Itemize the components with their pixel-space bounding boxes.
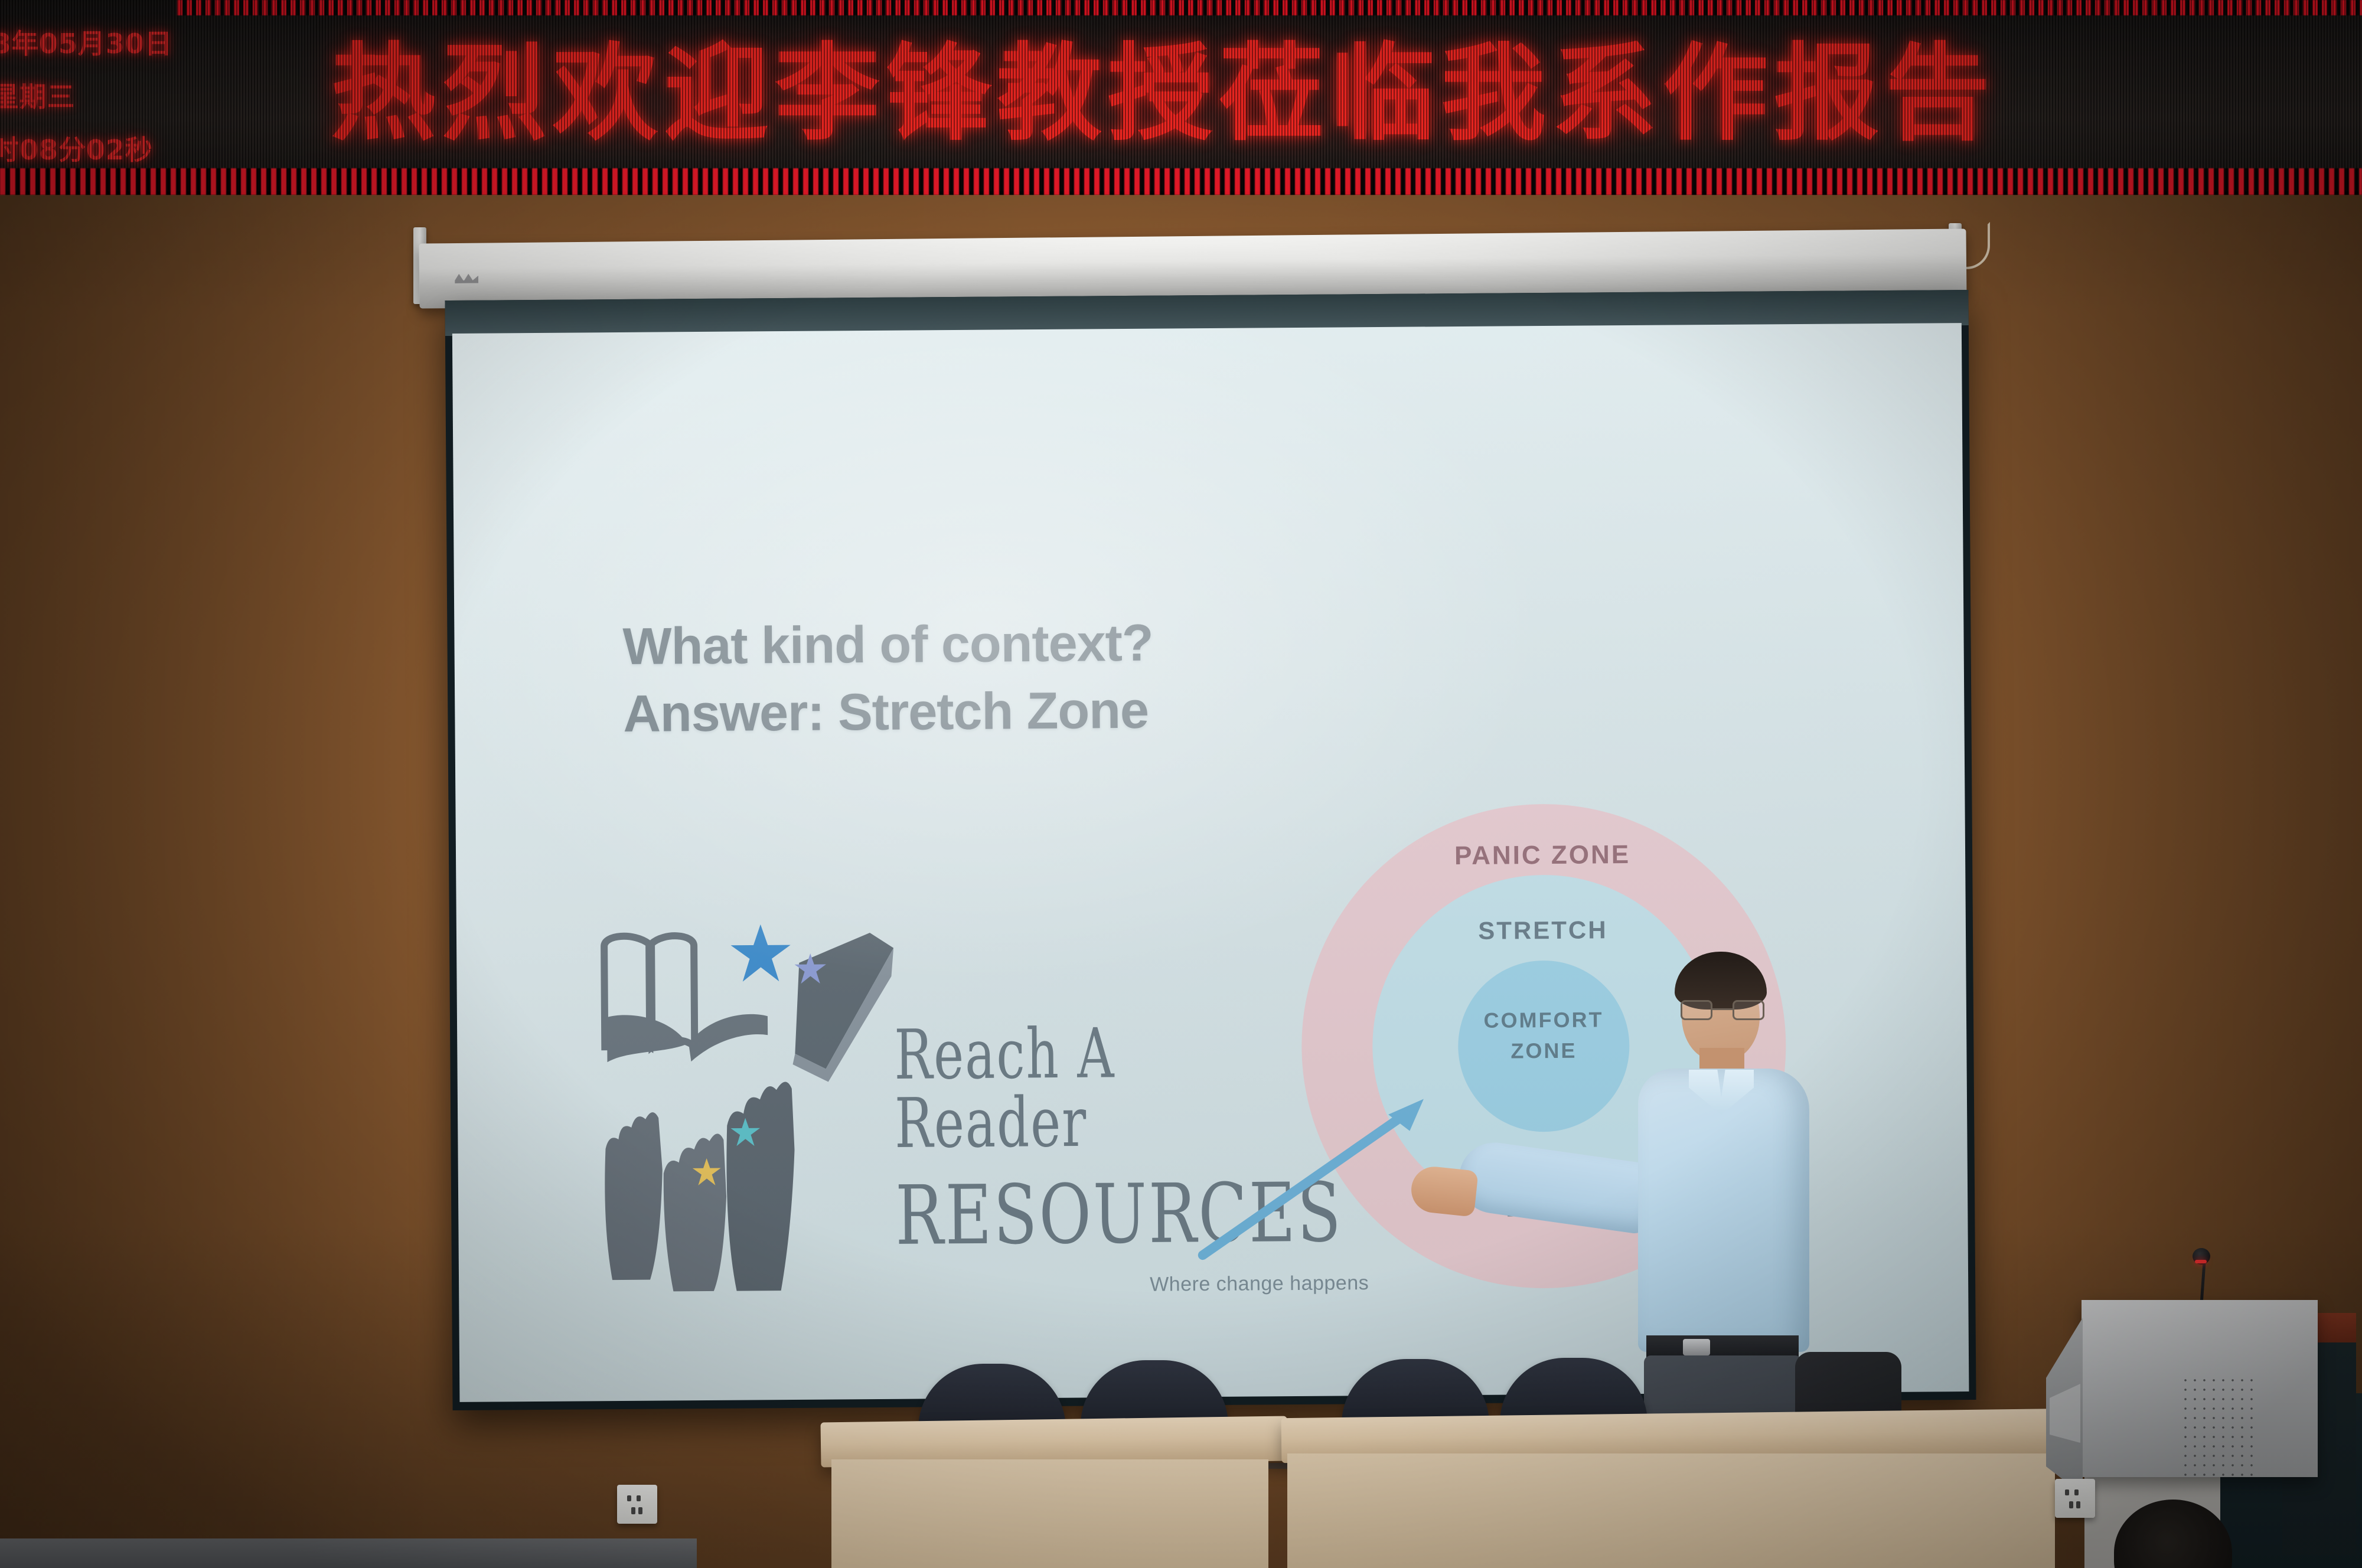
chair[interactable] [1500, 1358, 1647, 1423]
power-outlet-icon[interactable] [2055, 1479, 2095, 1518]
led-date-line: 8年05月30日 [0, 22, 164, 61]
led-bottom-border [0, 168, 2362, 195]
lectern-side-face [2046, 1318, 2083, 1495]
slide-heading: What kind of context? Answer: Stretch Zo… [622, 609, 1154, 748]
chair[interactable] [1342, 1359, 1489, 1424]
presenter-belt-buckle [1683, 1339, 1710, 1355]
change-arrow-icon [1190, 1088, 1439, 1267]
diagram-caption: Where change happens [1150, 1272, 1369, 1296]
glasses-icon [1681, 1000, 1764, 1021]
led-banner: 8年05月30日 星期三 时08分02秒 热烈欢迎李锋教授莅临我系作报告 [0, 0, 2362, 195]
led-main-message: 热烈欢迎李锋教授莅临我系作报告 [331, 20, 2362, 168]
desk-front-panel [831, 1459, 1268, 1568]
led-top-border [177, 0, 2362, 15]
led-weekday-line: 星期三 [0, 76, 164, 115]
star-icon [691, 1157, 722, 1188]
chair[interactable] [1081, 1360, 1228, 1425]
star-icon [729, 1116, 761, 1148]
screen-brand-logo [455, 274, 478, 283]
panic-zone-label: PANIC ZONE [1300, 839, 1784, 872]
raised-hands-icon [587, 1054, 860, 1292]
star-icon [793, 952, 827, 986]
lectern-body [2082, 1300, 2318, 1477]
slide-heading-line2: Answer: Stretch Zone [623, 677, 1154, 748]
led-info-column: 8年05月30日 星期三 时08分02秒 [0, 15, 164, 175]
led-time-line: 时08分02秒 [0, 129, 164, 168]
led-welcome-text: 热烈欢迎李锋教授莅临我系作报告 [331, 41, 1996, 146]
floor-strip [0, 1538, 697, 1568]
speaker-grille-icon [2181, 1376, 2257, 1482]
desk-front-panel [1287, 1453, 2055, 1568]
lecture-hall-scene: 8年05月30日 星期三 时08分02秒 热烈欢迎李锋教授莅临我系作报告 Wha… [0, 0, 2362, 1568]
power-outlet-icon[interactable] [617, 1485, 657, 1524]
microphone-status-light [2195, 1260, 2207, 1263]
reach-a-reader-logo: Reach A Reader RESOURCES [580, 918, 1280, 1289]
control-panel-icon[interactable] [2050, 1384, 2080, 1443]
front-desk-row [821, 1364, 2067, 1568]
star-icon [728, 922, 794, 987]
slide-heading-line1: What kind of context? [622, 609, 1153, 681]
